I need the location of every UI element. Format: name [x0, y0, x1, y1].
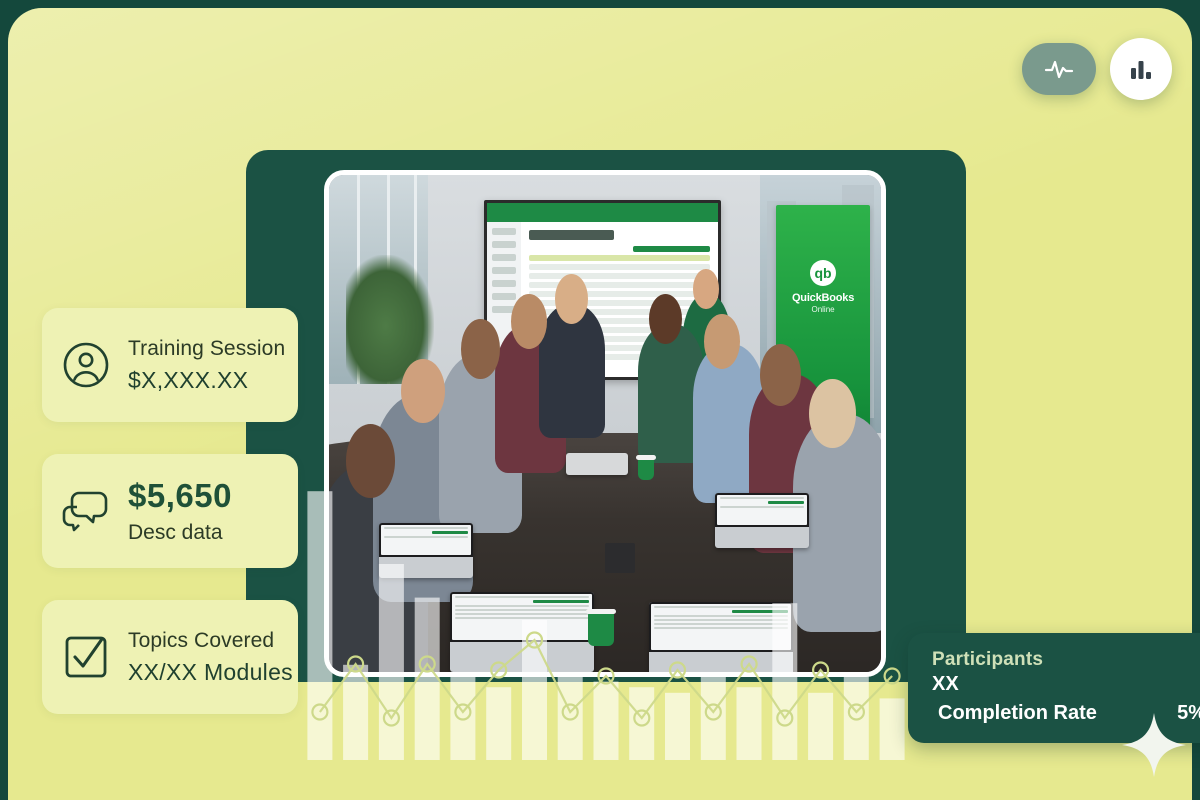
- attendee-head: [809, 379, 856, 449]
- stat-card-text: Topics Covered XX/XX Modules: [128, 629, 280, 686]
- attendee-head: [760, 344, 801, 406]
- laptop: [450, 592, 594, 672]
- activity-pulse-button[interactable]: [1022, 43, 1096, 95]
- laptop: [379, 523, 473, 578]
- completion-rate-row: Completion Rate 5%: [932, 702, 1200, 725]
- media-container: qb QuickBooks Online: [246, 150, 966, 682]
- infographic-canvas: qb QuickBooks Online: [0, 0, 1200, 800]
- stat-card-topics-covered[interactable]: Topics Covered XX/XX Modules: [42, 600, 298, 714]
- projector-device: [566, 453, 628, 475]
- attendee-head: [511, 294, 547, 349]
- coffee-cup: [638, 458, 654, 480]
- checkbox-check-icon: [60, 631, 112, 683]
- quickbooks-logo-icon: qb: [810, 260, 836, 286]
- pen-holder: [605, 543, 635, 573]
- bar-chart-icon: [1128, 57, 1154, 81]
- attendee-head: [461, 319, 500, 379]
- stat-card-list: Training Session $X,XXX.XX $5,650 Desc d…: [42, 308, 298, 714]
- stat-card-value: XX/XX Modules: [128, 659, 280, 686]
- completion-rate-label: Completion Rate: [938, 702, 1097, 725]
- stat-card-subtitle: Desc data: [128, 521, 232, 545]
- stat-card-training-session[interactable]: Training Session $X,XXX.XX: [42, 308, 298, 422]
- participants-label: Participants: [932, 649, 1200, 671]
- laptop: [649, 602, 793, 672]
- screen-app-header: [487, 203, 719, 222]
- laptop: [715, 493, 809, 548]
- stat-card-text: Training Session $X,XXX.XX: [128, 337, 280, 394]
- user-circle-icon: [60, 339, 112, 391]
- floating-action-buttons: [1022, 38, 1172, 100]
- attendee-head: [704, 314, 740, 369]
- stat-card-value: $X,XXX.XX: [128, 367, 280, 394]
- banner-subtitle: Online: [811, 305, 834, 314]
- completion-rate-value: 5%: [1177, 702, 1200, 725]
- metrics-panel: Participants XX Completion Rate 5%: [908, 633, 1200, 743]
- pulse-icon: [1044, 58, 1074, 80]
- stat-card-title: Topics Covered: [128, 629, 280, 653]
- chat-bubbles-icon: [60, 485, 112, 537]
- stat-card-value: $5,650: [128, 477, 232, 515]
- bar-chart-button[interactable]: [1110, 38, 1172, 100]
- attendee-head: [649, 294, 682, 344]
- training-photo: qb QuickBooks Online: [329, 175, 881, 672]
- participants-value: XX: [932, 673, 1200, 696]
- attendee: [539, 304, 605, 438]
- stat-card-desc-data[interactable]: $5,650 Desc data: [42, 454, 298, 568]
- training-photo-frame: qb QuickBooks Online: [324, 170, 886, 677]
- banner-title: QuickBooks: [792, 292, 854, 304]
- stat-card-text: $5,650 Desc data: [128, 477, 232, 545]
- attendee-head: [346, 424, 396, 499]
- presenter-head: [693, 269, 718, 309]
- coffee-cup: [588, 612, 614, 646]
- stat-card-title: Training Session: [128, 337, 280, 361]
- attendee-head: [401, 359, 445, 424]
